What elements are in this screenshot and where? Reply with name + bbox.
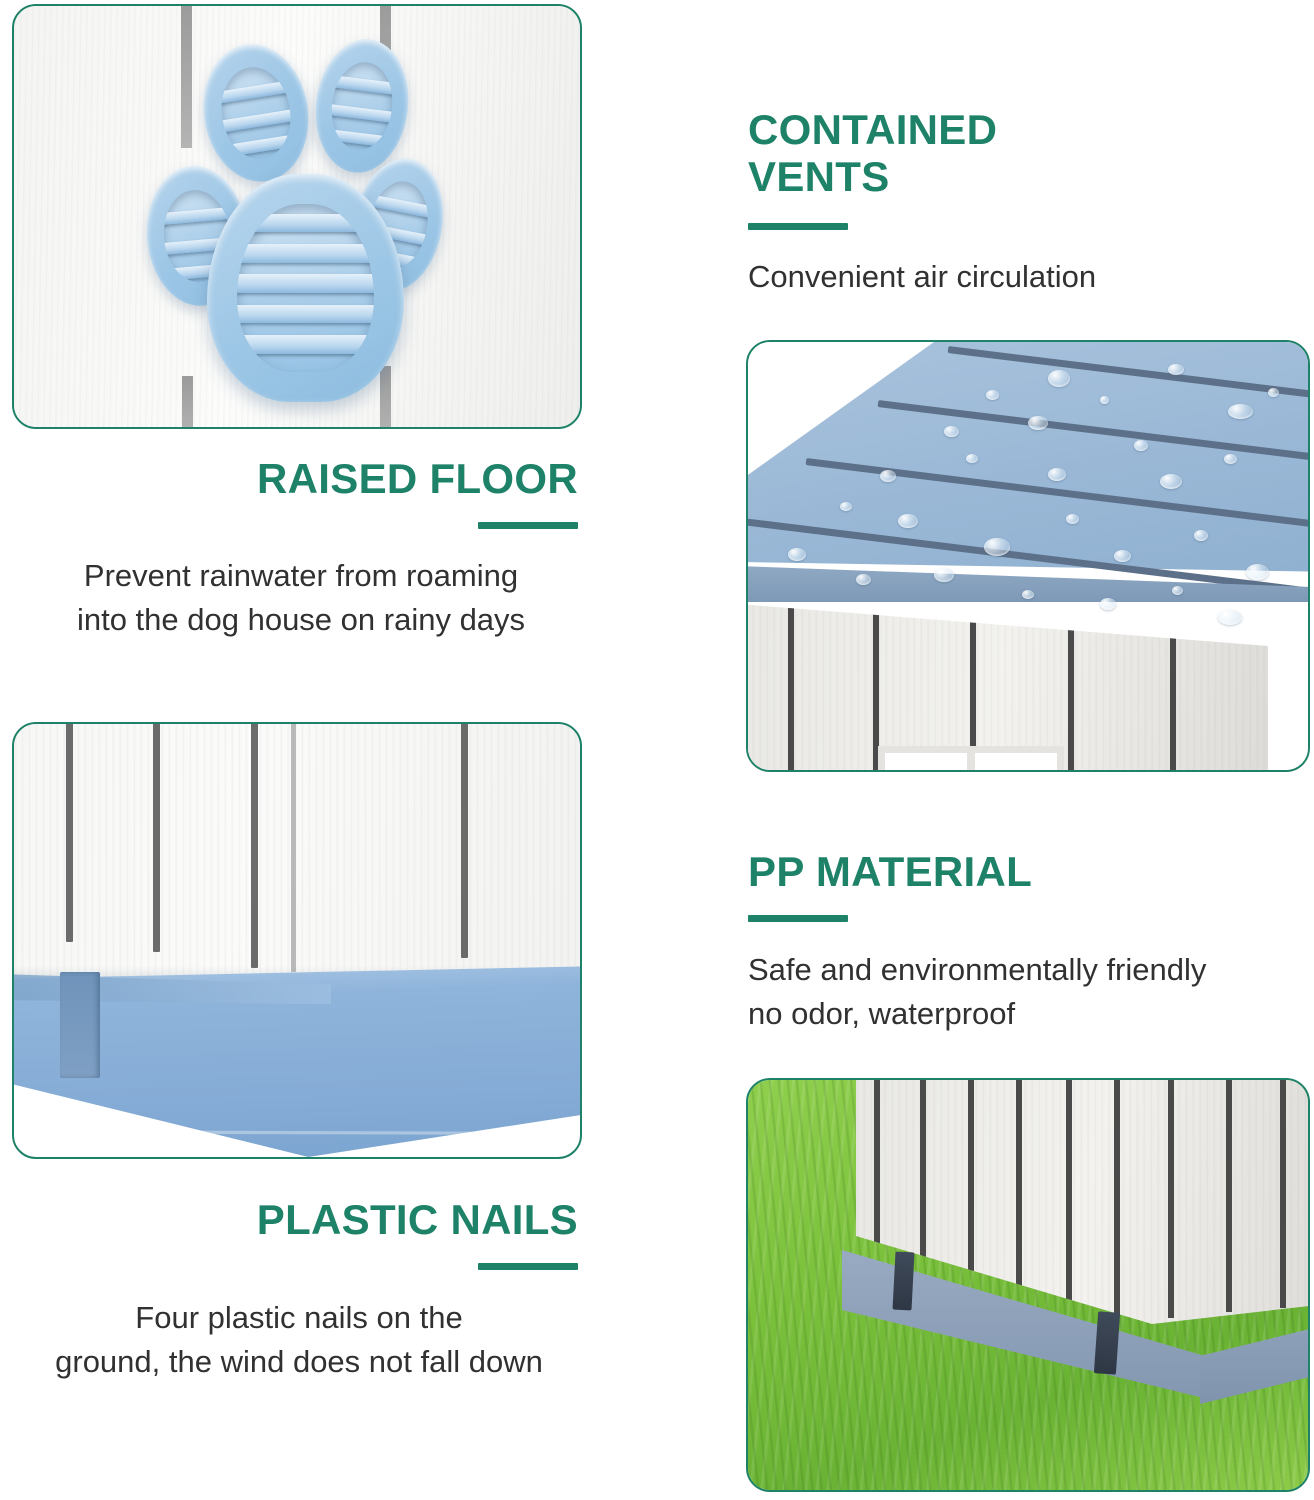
contained-vents-image-card bbox=[746, 340, 1310, 772]
pp-material-description-line2: no odor, waterproof bbox=[748, 992, 1310, 1036]
water-droplet bbox=[1022, 590, 1034, 599]
water-droplet bbox=[1172, 586, 1183, 595]
water-droplet bbox=[898, 514, 918, 528]
panel-gap bbox=[182, 376, 193, 429]
pp-material-image-card bbox=[746, 1078, 1310, 1492]
water-droplet bbox=[1100, 598, 1116, 610]
house-window bbox=[878, 746, 1064, 772]
raised-floor-description: Prevent rainwater from roaming into the … bbox=[24, 554, 578, 642]
panel-gap bbox=[380, 366, 391, 429]
contained-vents-heading: CONTAINED VENTS bbox=[748, 106, 1288, 200]
plastic-nails-description-line1: Four plastic nails on the bbox=[10, 1296, 588, 1340]
raised-floor-heading: RAISED FLOOR bbox=[78, 455, 578, 502]
water-droplet bbox=[880, 470, 896, 482]
pp-material-heading: PP MATERIAL bbox=[748, 848, 1288, 895]
raised-floor-description-line1: Prevent rainwater from roaming bbox=[24, 554, 578, 598]
base-notch bbox=[60, 972, 100, 1078]
contained-vents-heading-line1: CONTAINED bbox=[748, 106, 1288, 153]
plastic-nail bbox=[892, 1252, 914, 1311]
wall-planks bbox=[14, 724, 580, 992]
plastic-nails-divider bbox=[478, 1263, 578, 1270]
plastic-nails-description-line2: ground, the wind does not fall down bbox=[10, 1340, 588, 1384]
plastic-nail bbox=[1094, 1311, 1120, 1374]
panel-gap bbox=[181, 4, 192, 148]
water-droplet bbox=[1160, 474, 1182, 489]
raised-floor-divider bbox=[478, 522, 578, 529]
water-droplet bbox=[1194, 530, 1208, 541]
water-droplet bbox=[1114, 550, 1131, 562]
water-droplet bbox=[788, 548, 806, 561]
water-droplet bbox=[986, 390, 999, 400]
pp-material-description: Safe and environmentally friendly no odo… bbox=[748, 948, 1310, 1036]
water-droplet bbox=[856, 574, 871, 585]
water-droplet bbox=[1048, 370, 1070, 387]
water-droplet bbox=[934, 568, 954, 582]
water-droplet bbox=[1028, 416, 1048, 430]
raised-floor-description-line2: into the dog house on rainy days bbox=[24, 598, 578, 642]
water-droplet bbox=[1268, 388, 1279, 397]
water-droplet bbox=[1048, 468, 1066, 481]
water-droplet bbox=[1224, 454, 1237, 464]
water-droplet bbox=[966, 454, 978, 463]
vent-main-pad bbox=[207, 174, 404, 402]
raised-base bbox=[14, 966, 580, 1157]
pp-material-description-line1: Safe and environmentally friendly bbox=[748, 948, 1310, 992]
water-droplet bbox=[1246, 564, 1269, 580]
plastic-nails-heading: PLASTIC NAILS bbox=[78, 1196, 578, 1243]
water-droplet bbox=[1100, 396, 1109, 404]
water-droplet bbox=[1218, 610, 1242, 625]
water-droplet bbox=[1134, 440, 1148, 451]
contained-vents-description: Convenient air circulation bbox=[748, 255, 1308, 299]
pp-material-divider bbox=[748, 915, 848, 922]
water-droplet bbox=[1066, 514, 1079, 524]
water-droplet bbox=[840, 502, 852, 511]
plastic-nails-description: Four plastic nails on the ground, the wi… bbox=[10, 1296, 588, 1384]
raised-floor-image-card bbox=[12, 4, 582, 429]
contained-vents-heading-line2: VENTS bbox=[748, 153, 1288, 200]
contained-vents-divider bbox=[748, 223, 848, 230]
water-droplet bbox=[1228, 404, 1253, 419]
water-droplet bbox=[944, 426, 959, 437]
water-droplet bbox=[984, 538, 1010, 556]
plastic-nails-image-card bbox=[12, 722, 582, 1159]
water-droplet bbox=[1168, 364, 1184, 375]
